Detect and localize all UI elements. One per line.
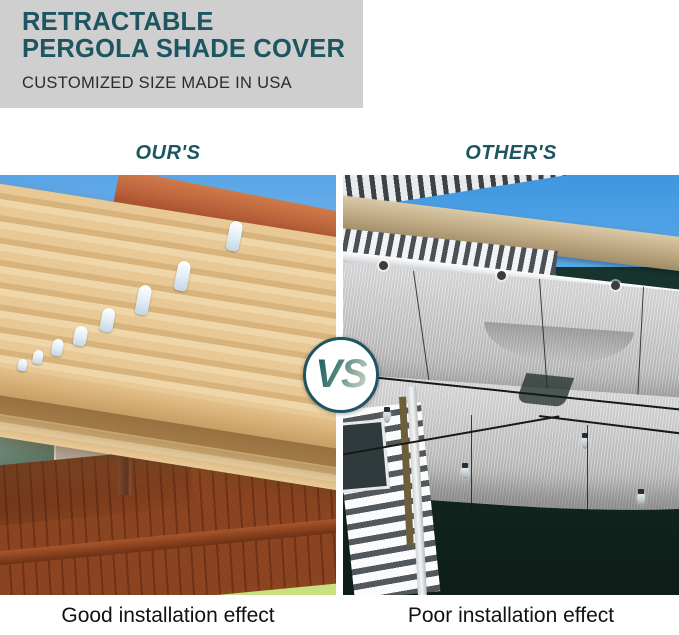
photo-ours <box>0 175 336 595</box>
photo-others <box>343 175 679 595</box>
header-banner: RETRACTABLE PERGOLA SHADE COVER CUSTOMIZ… <box>0 0 363 108</box>
page-title: RETRACTABLE PERGOLA SHADE COVER <box>22 9 345 63</box>
vs-badge: VS <box>303 337 379 413</box>
subtitle: CUSTOMIZED SIZE MADE IN USA <box>22 74 292 93</box>
tension-wire <box>587 425 588 595</box>
dark-window <box>343 419 390 493</box>
column-title-others: OTHER'S <box>343 142 679 165</box>
column-title-ours: OUR'S <box>0 142 336 165</box>
caption-others: Poor installation effect <box>343 604 679 628</box>
shade-grommet <box>379 261 388 270</box>
shade-grommet <box>497 271 506 280</box>
shade-grommet <box>611 281 620 290</box>
caption-ours: Good installation effect <box>0 604 336 628</box>
tension-wire <box>471 415 472 585</box>
headline-line-2: PERGOLA SHADE COVER <box>22 36 345 63</box>
headline-line-1: RETRACTABLE <box>22 9 345 36</box>
vs-label: VS <box>315 354 366 396</box>
